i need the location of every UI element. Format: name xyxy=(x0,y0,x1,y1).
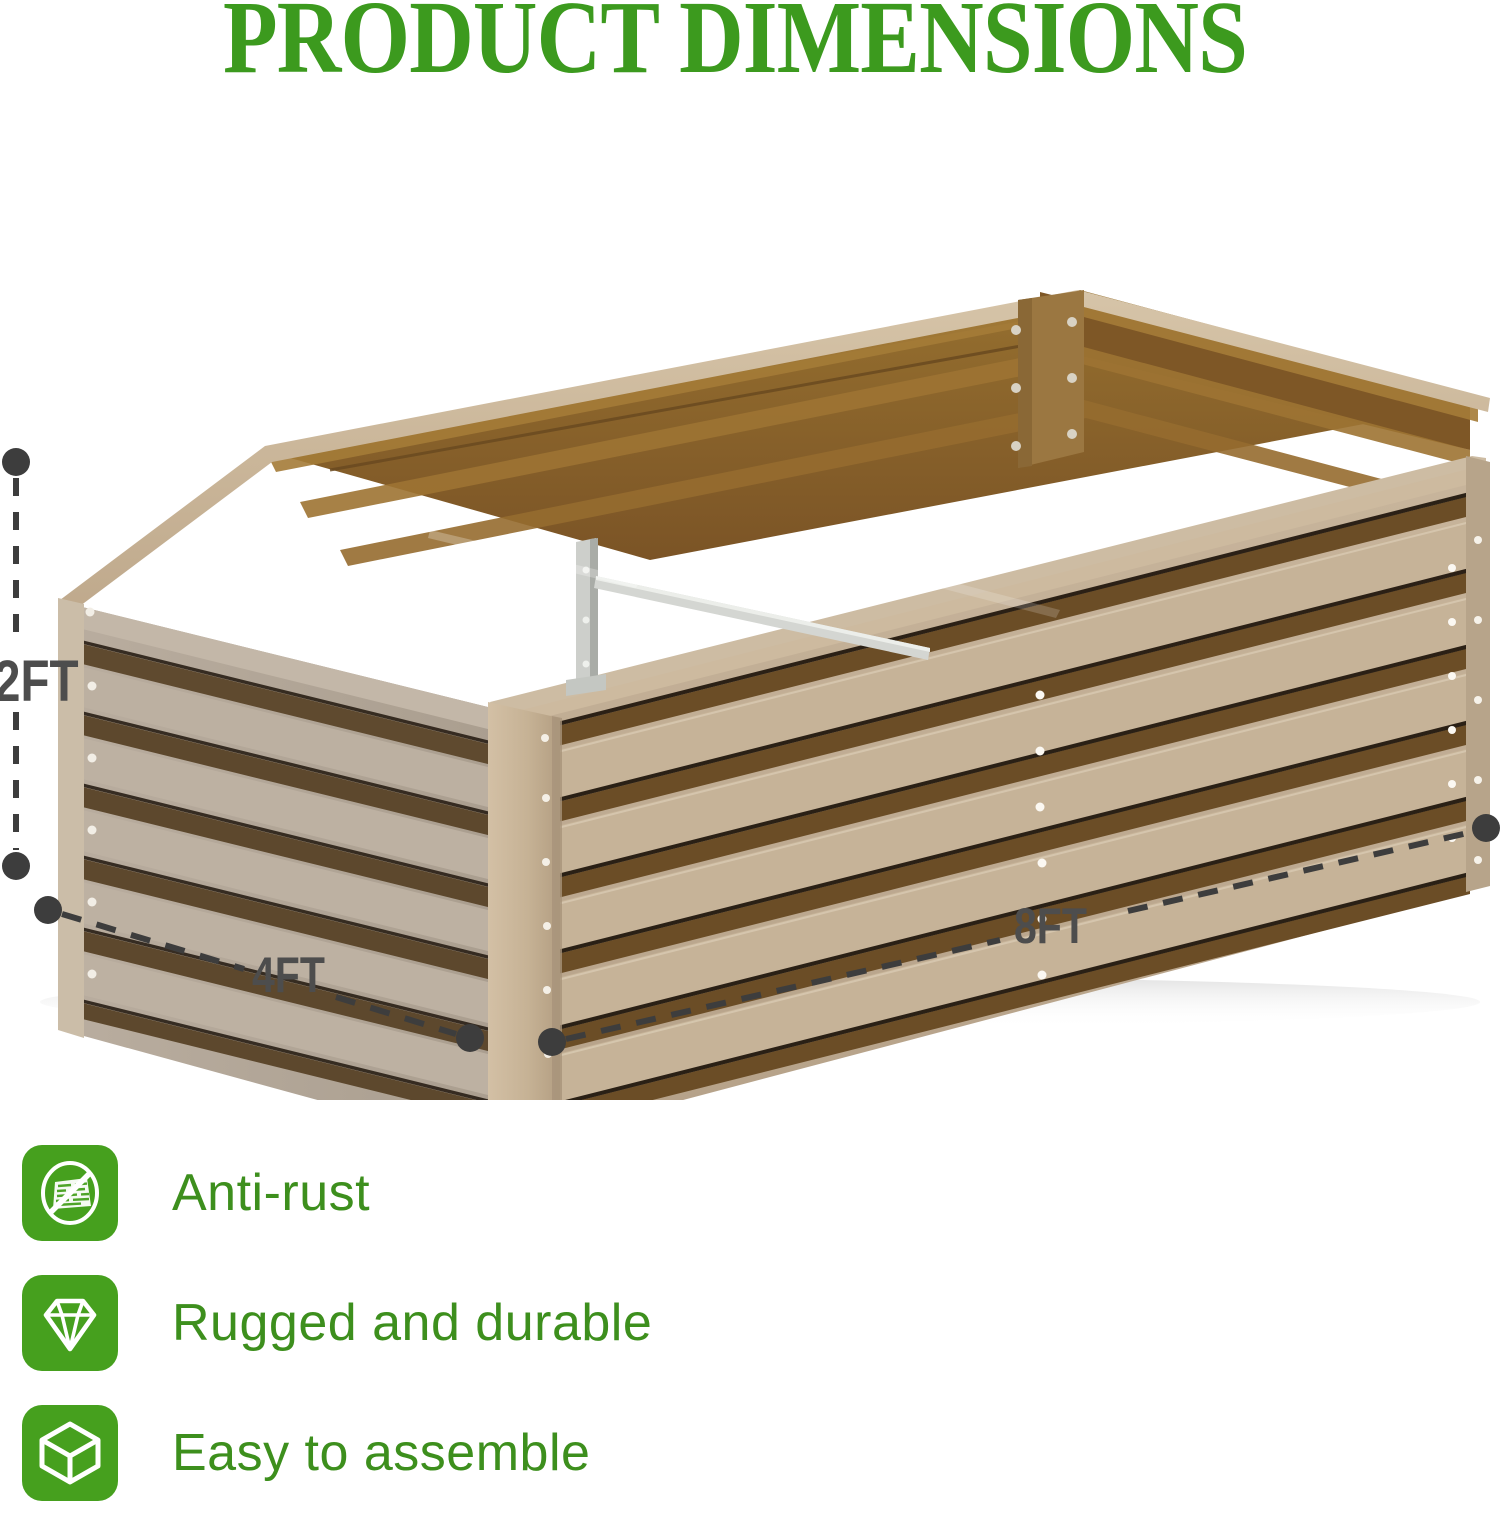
left-side-panel xyxy=(58,598,500,1100)
page-title: PRODUCT DIMENSIONS xyxy=(103,0,1367,90)
cube-box-icon xyxy=(22,1405,118,1501)
feature-label-anti-rust: Anti-rust xyxy=(172,1163,370,1223)
feature-label-easy-assemble: Easy to assemble xyxy=(172,1423,590,1483)
corner-edge-right xyxy=(1466,456,1490,892)
feature-item-easy-assemble: Easy to assemble xyxy=(22,1388,922,1518)
feature-list: Anti-rust Rugged and durable xyxy=(22,1128,922,1518)
feature-item-rugged-durable: Rugged and durable xyxy=(22,1258,922,1388)
raised-garden-bed-image xyxy=(0,150,1500,1100)
feature-item-anti-rust: Anti-rust xyxy=(22,1128,922,1258)
corner-post-back xyxy=(1011,290,1084,468)
feature-label-rugged-durable: Rugged and durable xyxy=(172,1293,652,1353)
no-rust-icon xyxy=(22,1145,118,1241)
diamond-icon xyxy=(22,1275,118,1371)
product-illustration-stage xyxy=(0,150,1500,1100)
corner-post-front xyxy=(488,702,562,1100)
